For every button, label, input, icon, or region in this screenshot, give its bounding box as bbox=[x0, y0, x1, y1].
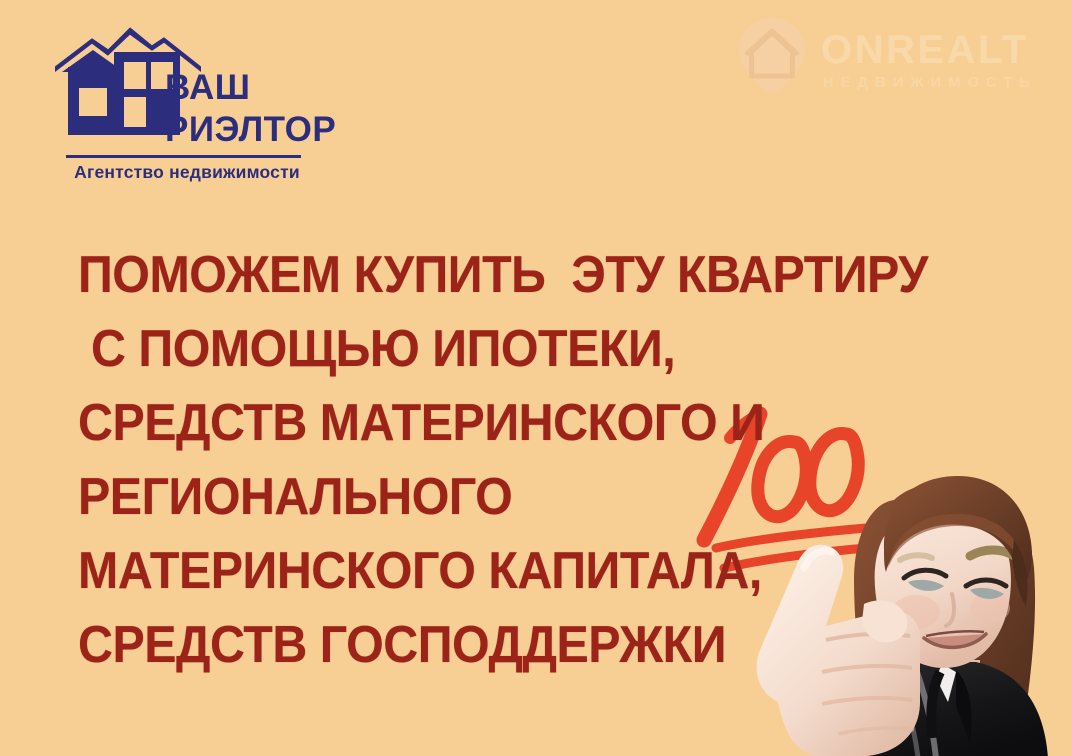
headline-line-3: СРЕДСТВ МАТЕРИНСКОГО И bbox=[78, 386, 710, 460]
onrealt-watermark: ONREALT НЕДВИЖИМОСТЬ bbox=[735, 14, 1055, 102]
headline-line-5: МАТЕРИНСКОГО КАПИТАЛА, bbox=[78, 534, 710, 608]
agency-logo: ВАШ РИЭЛТОР Агентство недвижимости bbox=[52, 22, 312, 172]
headline-line-1: ПОМОЖЕМ КУПИТЬ ЭТУ КВАРТИРУ bbox=[78, 238, 710, 312]
logo-line-2: РИЭЛТОР bbox=[165, 112, 336, 147]
watermark-brand: ONREALT bbox=[821, 30, 1029, 70]
logo-tagline: Агентство недвижимости bbox=[67, 162, 307, 183]
logo-divider bbox=[66, 155, 301, 158]
thumbs-up-avatar bbox=[718, 372, 1072, 756]
headline-line-6: СРЕДСТВ ГОСПОДДЕРЖКИ bbox=[78, 608, 710, 682]
headline-line-4: РЕГИОНАЛЬНОГО bbox=[78, 460, 710, 534]
map-pin-house-icon bbox=[735, 16, 809, 94]
headline-block: ПОМОЖЕМ КУПИТЬ ЭТУ КВАРТИРУ С ПОМОЩЬЮ ИП… bbox=[78, 238, 758, 682]
logo-line-1: ВАШ bbox=[165, 70, 250, 105]
headline-line-2: С ПОМОЩЬЮ ИПОТЕКИ, bbox=[78, 312, 710, 386]
poster-canvas: ONREALT НЕДВИЖИМОСТЬ ВАШ РИЭЛТОР Агентст… bbox=[0, 0, 1072, 756]
watermark-subtitle: НЕДВИЖИМОСТЬ bbox=[823, 76, 1037, 91]
